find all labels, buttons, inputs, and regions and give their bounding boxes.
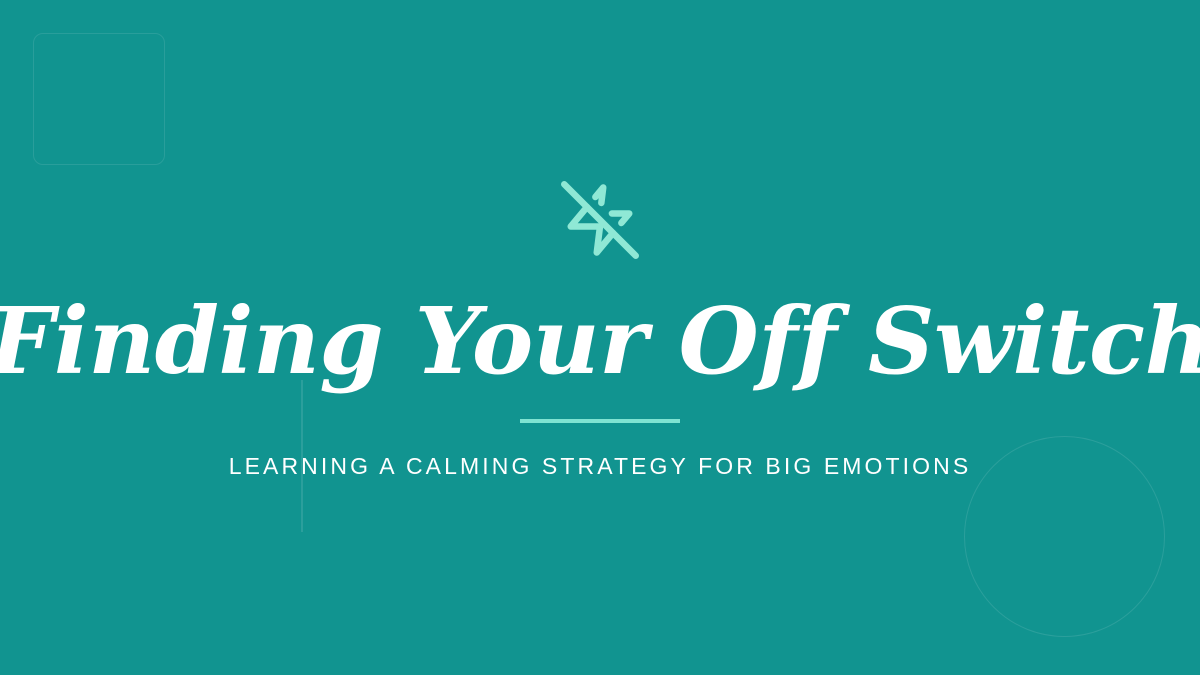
title-slide: Finding Your Off Switch LEARNING A CALMI… (0, 0, 1200, 675)
zap-off-icon (561, 181, 639, 259)
page-subtitle: LEARNING A CALMING STRATEGY FOR BIG EMOT… (229, 453, 972, 481)
zap-off-glyph (561, 181, 639, 259)
slide-content: Finding Your Off Switch LEARNING A CALMI… (0, 0, 1200, 675)
title-divider (520, 419, 680, 423)
page-title: Finding Your Off Switch (0, 295, 1200, 389)
